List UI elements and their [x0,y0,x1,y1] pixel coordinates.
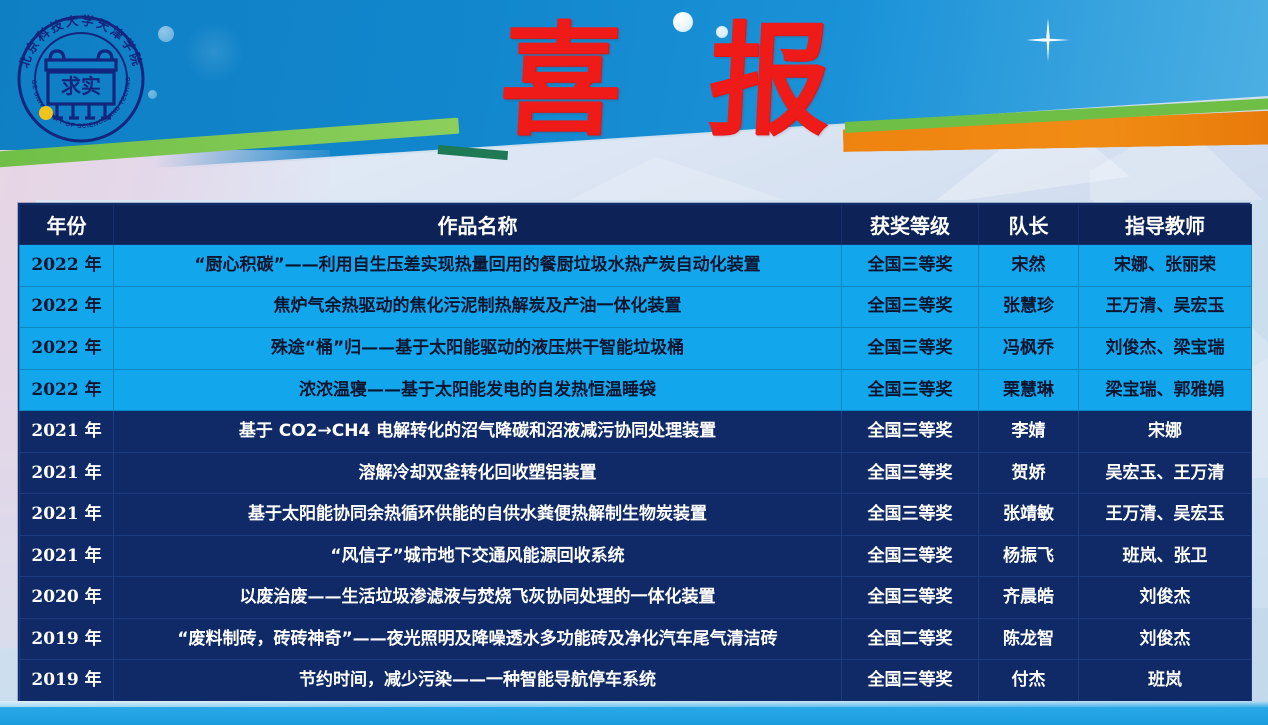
cell-teacher: 刘俊杰 [1079,577,1252,619]
cell-name: 焦炉气余热驱动的焦化污泥制热解炭及产油一体化装置 [114,286,842,328]
cell-year: 2022 年 [20,328,114,370]
cell-leader: 付杰 [979,660,1079,702]
table-row: 2020 年以废治废——生活垃圾渗滤液与焚烧飞灰协同处理的一体化装置全国三等奖齐… [20,577,1252,619]
cell-name: “厨心积碳”——利用自生压差实现热量回用的餐厨垃圾水热产炭自动化装置 [114,245,842,287]
cell-year: 2021 年 [20,494,114,536]
cell-award: 全国三等奖 [842,411,979,453]
cell-award: 全国三等奖 [842,328,979,370]
cell-teacher: 宋娜、张丽荣 [1079,245,1252,287]
cell-year: 2022 年 [20,369,114,411]
svg-text:求实: 求实 [61,74,101,98]
table-row: 2021 年基于太阳能协同余热循环供能的自供水粪便热解制生物炭装置全国三等奖张靖… [20,494,1252,536]
cell-teacher: 梁宝瑞、郭雅娟 [1079,369,1252,411]
table-row: 2021 年基于 CO2→CH4 电解转化的沼气降碳和沼液减污协同处理装置全国三… [20,411,1252,453]
cell-teacher: 吴宏玉、王万清 [1079,452,1252,494]
cell-year: 2021 年 [20,452,114,494]
cell-leader: 张靖敏 [979,494,1079,536]
cell-award: 全国二等奖 [842,618,979,660]
cell-leader: 陈龙智 [979,618,1079,660]
cell-name: 基于太阳能协同余热循环供能的自供水粪便热解制生物炭装置 [114,494,842,536]
cell-name: 以废治废——生活垃圾渗滤液与焚烧飞灰协同处理的一体化装置 [114,577,842,619]
cell-year: 2021 年 [20,411,114,453]
cell-teacher: 刘俊杰 [1079,618,1252,660]
cell-award: 全国三等奖 [842,245,979,287]
cell-year: 2019 年 [20,618,114,660]
cell-award: 全国三等奖 [842,577,979,619]
cell-name: 浓浓温寝——基于太阳能发电的自发热恒温睡袋 [114,369,842,411]
cell-award: 全国三等奖 [842,535,979,577]
bubble-icon-3 [158,26,174,42]
cell-name: 殊途“桶”归——基于太阳能驱动的液压烘干智能垃圾桶 [114,328,842,370]
page-title: 喜 报 [496,10,844,155]
cell-teacher: 王万清、吴宏玉 [1079,494,1252,536]
cell-leader: 宋然 [979,245,1079,287]
cell-leader: 栗慧琳 [979,369,1079,411]
cell-name: 节约时间，减少污染——一种智能导航停车系统 [114,660,842,702]
cell-leader: 张慧珍 [979,286,1079,328]
cell-leader: 杨振飞 [979,535,1079,577]
cell-teacher: 班岚、张卫 [1079,535,1252,577]
cell-award: 全国三等奖 [842,452,979,494]
column-header-teacher: 指导教师 [1079,205,1252,245]
cell-year: 2021 年 [20,535,114,577]
cell-year: 2022 年 [20,286,114,328]
bottom-band-highlight [0,701,1268,707]
sparkle-star-icon [1026,18,1070,62]
table-row: 2022 年“厨心积碳”——利用自生压差实现热量回用的餐厨垃圾水热产炭自动化装置… [20,245,1252,287]
cell-name: “废料制砖，砖砖神奇”——夜光照明及降噪透水多功能砖及净化汽车尾气清洁砖 [114,618,842,660]
cell-name: 溶解冷却双釜转化回收塑铝装置 [114,452,842,494]
cell-year: 2020 年 [20,577,114,619]
awards-table: 年份 作品名称 获奖等级 队长 指导教师 2022 年“厨心积碳”——利用自生压… [19,204,1252,702]
cell-teacher: 班岚 [1079,660,1252,702]
table-row: 2021 年溶解冷却双釜转化回收塑铝装置全国三等奖贺娇吴宏玉、王万清 [20,452,1252,494]
cell-leader: 冯枫乔 [979,328,1079,370]
table-row: 2022 年焦炉气余热驱动的焦化污泥制热解炭及产油一体化装置全国三等奖张慧珍王万… [20,286,1252,328]
cell-leader: 贺娇 [979,452,1079,494]
table-row: 2021 年“风信子”城市地下交通风能源回收系统全国三等奖杨振飞班岚、张卫 [20,535,1252,577]
cell-leader: 齐晨皓 [979,577,1079,619]
cell-teacher: 刘俊杰、梁宝瑞 [1079,328,1252,370]
cell-award: 全国三等奖 [842,494,979,536]
column-header-award: 获奖等级 [842,205,979,245]
cell-award: 全国三等奖 [842,369,979,411]
cell-award: 全国三等奖 [842,660,979,702]
cell-teacher: 宋娜 [1079,411,1252,453]
cell-award: 全国三等奖 [842,286,979,328]
table-row: 2022 年浓浓温寝——基于太阳能发电的自发热恒温睡袋全国三等奖栗慧琳梁宝瑞、郭… [20,369,1252,411]
cell-leader: 李婧 [979,411,1079,453]
glow-bubble-large [184,22,244,82]
awards-table-wrapper: 年份 作品名称 获奖等级 队长 指导教师 2022 年“厨心积碳”——利用自生压… [18,203,1250,703]
award-announcement-poster: 求实 鼎新 北京科技大学天津学院 TIANJIN COLLEGE UNIVERS… [0,0,1268,725]
table-header-row: 年份 作品名称 获奖等级 队长 指导教师 [20,205,1252,245]
column-header-leader: 队长 [979,205,1079,245]
table-row: 2019 年节约时间，减少污染——一种智能导航停车系统全国三等奖付杰班岚 [20,660,1252,702]
column-header-project: 作品名称 [114,205,842,245]
table-row: 2022 年殊途“桶”归——基于太阳能驱动的液压烘干智能垃圾桶全国三等奖冯枫乔刘… [20,328,1252,370]
cell-name: 基于 CO2→CH4 电解转化的沼气降碳和沼液减污协同处理装置 [114,411,842,453]
table-body: 2022 年“厨心积碳”——利用自生压差实现热量回用的餐厨垃圾水热产炭自动化装置… [20,245,1252,702]
cell-year: 2022 年 [20,245,114,287]
column-header-year: 年份 [20,205,114,245]
cell-name: “风信子”城市地下交通风能源回收系统 [114,535,842,577]
university-seal-logo: 求实 鼎新 北京科技大学天津学院 TIANJIN COLLEGE UNIVERS… [10,8,152,150]
cell-teacher: 王万清、吴宏玉 [1079,286,1252,328]
table-row: 2019 年“废料制砖，砖砖神奇”——夜光照明及降噪透水多功能砖及净化汽车尾气清… [20,618,1252,660]
cell-year: 2019 年 [20,660,114,702]
